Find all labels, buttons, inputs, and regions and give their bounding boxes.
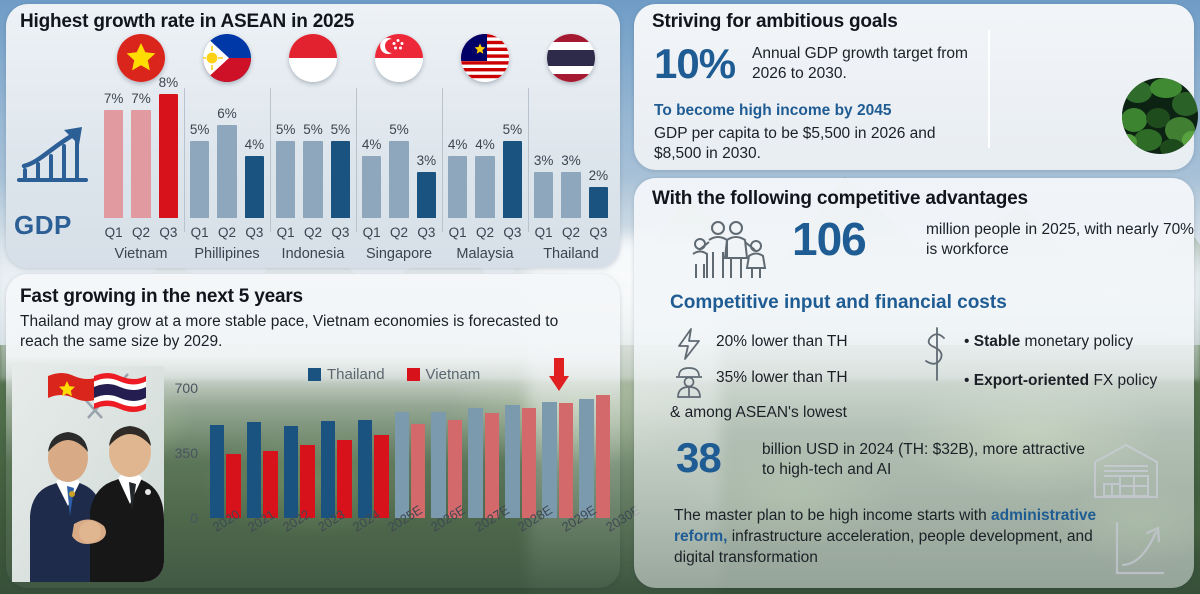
year-group-2028E <box>505 405 536 518</box>
bar-q1 <box>362 156 381 218</box>
bar-thailand-2030E <box>579 399 593 518</box>
quarter-label: Q3 <box>159 225 178 240</box>
singapore-flag-icon <box>375 34 423 82</box>
bar-wrapper: 4% <box>448 90 467 218</box>
country-group-thailand: 3%3%2%Q1Q2Q3Thailand <box>528 30 614 264</box>
y-axis-tick-label: 350 <box>168 445 206 461</box>
year-group-2020 <box>210 425 241 518</box>
bars-malaysia: 4%4%5% <box>448 90 522 218</box>
forecast-legend: ThailandVietnam <box>308 366 480 383</box>
year-group-2022 <box>284 426 315 518</box>
country-group-phillipines: 5%6%4%Q1Q2Q3Phillipines <box>184 30 270 264</box>
bar-q1 <box>190 141 209 219</box>
quarter-labels: Q1Q2Q3 <box>190 225 264 240</box>
bar-q1 <box>276 141 295 219</box>
legend-swatch <box>308 368 321 381</box>
quarter-label: Q3 <box>503 225 522 240</box>
fdi-text: billion USD in 2024 (TH: $32B), more att… <box>762 440 1092 480</box>
country-group-vietnam: 7%7%8%Q1Q2Q3Vietnam <box>98 30 184 264</box>
gdp-target-text: Annual GDP growth target from 2026 to 20… <box>752 44 1002 84</box>
country-group-indonesia: 5%5%5%Q1Q2Q3Indonesia <box>270 30 356 264</box>
bar-q2 <box>303 141 322 219</box>
bar-value-label: 3% <box>417 153 437 168</box>
legend-item-vietnam: Vietnam <box>407 366 481 383</box>
bar-thailand-2023 <box>321 421 335 518</box>
bar-vietnam-2030E <box>596 395 610 518</box>
bar-wrapper: 5% <box>190 90 209 218</box>
y-axis-tick-label: 700 <box>168 380 206 396</box>
bar-value-label: 4% <box>448 137 468 152</box>
country-group-singapore: 4%5%3%Q1Q2Q3Singapore <box>356 30 442 264</box>
quarter-label: Q2 <box>475 225 494 240</box>
philippines-flag-icon <box>203 34 251 82</box>
country-name-label: Singapore <box>356 246 442 262</box>
bar-wrapper: 7% <box>131 90 150 218</box>
bar-thailand-2028E <box>505 405 519 518</box>
quarter-label: Q2 <box>303 225 322 240</box>
bar-wrapper: 4% <box>362 90 381 218</box>
bullet-stable-bold: Stable <box>974 333 1021 350</box>
bar-wrapper: 7% <box>104 90 123 218</box>
bar-q3 <box>159 94 178 218</box>
goals-panel: Striving for ambitious goals 10% Annual … <box>634 4 1194 170</box>
bullet-export-rest: FX policy <box>1089 372 1157 389</box>
labor-cost-line: 35% lower than TH <box>716 369 848 387</box>
bar-value-label: 8% <box>159 75 179 90</box>
construction-worker-icon <box>674 366 704 398</box>
legend-item-thailand: Thailand <box>308 366 385 383</box>
indonesia-flag-icon <box>289 34 337 82</box>
malaysia-flag-icon <box>461 34 509 82</box>
forecast-bars <box>210 388 610 518</box>
bar-q1 <box>534 172 553 219</box>
bar-wrapper: 5% <box>389 90 408 218</box>
bar-wrapper: 4% <box>245 90 264 218</box>
quarter-label: Q2 <box>217 225 236 240</box>
high-income-highlight: To become high income by 2045 <box>654 102 891 120</box>
forecast-panel: Fast growing in the next 5 years Thailan… <box>6 274 620 588</box>
bar-q2 <box>561 172 580 219</box>
bar-value-label: 2% <box>589 168 609 183</box>
bar-vietnam-2024 <box>374 435 388 518</box>
master-plan-text: The master plan to be high income starts… <box>674 506 1104 569</box>
asean-lowest-line: & among ASEAN's lowest <box>670 404 847 422</box>
bar-wrapper: 4% <box>475 90 494 218</box>
gdp-target-number: 10% <box>654 40 735 88</box>
bar-value-label: 4% <box>362 137 382 152</box>
year-group-2027E <box>468 408 499 519</box>
bars-singapore: 4%5%3% <box>362 90 436 218</box>
goals-title: Striving for ambitious goals <box>652 11 898 33</box>
bars-indonesia: 5%5%5% <box>276 90 350 218</box>
bar-thailand-2027E <box>468 408 482 519</box>
bar-q3 <box>245 156 264 218</box>
bar-vietnam-2029E <box>559 403 573 519</box>
gdp-per-capita-text: GDP per capita to be $5,500 in 2026 and … <box>654 124 984 164</box>
quarter-label: Q2 <box>389 225 408 240</box>
country-group-malaysia: 4%4%5%Q1Q2Q3Malaysia <box>442 30 528 264</box>
bar-q2 <box>131 110 150 219</box>
population-number: 106 <box>792 212 866 266</box>
country-group-list: 7%7%8%Q1Q2Q3Vietnam5%6%4%Q1Q2Q3Phillipin… <box>98 30 614 264</box>
bar-value-label: 4% <box>475 137 495 152</box>
bar-value-label: 7% <box>104 91 124 106</box>
quarter-label: Q1 <box>276 225 295 240</box>
quarter-label: Q2 <box>561 225 580 240</box>
bar-q2 <box>217 125 236 218</box>
bar-vietnam-2027E <box>485 413 499 518</box>
bar-value-label: 5% <box>276 122 296 137</box>
bar-value-label: 5% <box>190 122 210 137</box>
quarter-label: Q1 <box>448 225 467 240</box>
bar-value-label: 4% <box>245 137 265 152</box>
country-name-label: Phillipines <box>184 246 270 262</box>
population-text: million people in 2025, with nearly 70% … <box>926 220 1196 260</box>
vietnam-thailand-crossed-flags-icon <box>40 368 150 420</box>
advantages-panel: With the following competitive advantage… <box>634 178 1194 588</box>
year-group-2023 <box>321 421 352 518</box>
bar-q3 <box>331 141 350 219</box>
dollar-sign-icon <box>924 326 950 382</box>
quarter-labels: Q1Q2Q3 <box>448 225 522 240</box>
bar-q3 <box>589 187 608 218</box>
bar-q3 <box>503 141 522 219</box>
quarter-label: Q1 <box>190 225 209 240</box>
bar-wrapper: 3% <box>417 90 436 218</box>
quarter-label: Q1 <box>362 225 381 240</box>
quarter-label: Q2 <box>131 225 150 240</box>
plan-prefix: The master plan to be high income starts… <box>674 507 991 524</box>
bar-thailand-2021 <box>247 422 261 518</box>
bullet-stable-policy: Stable monetary policy <box>964 333 1133 351</box>
bar-value-label: 5% <box>389 122 409 137</box>
bar-value-label: 3% <box>534 153 554 168</box>
bar-wrapper: 6% <box>217 90 236 218</box>
bar-value-label: 6% <box>217 106 237 121</box>
bar-wrapper: 3% <box>534 90 553 218</box>
advantages-title: With the following competitive advantage… <box>652 188 1028 210</box>
goals-divider <box>988 30 990 148</box>
bars-vietnam: 7%7%8% <box>104 90 178 218</box>
quarter-label: Q3 <box>589 225 608 240</box>
bar-vietnam-2028E <box>522 408 536 518</box>
fdi-number: 38 <box>676 434 721 482</box>
bar-wrapper: 2% <box>589 90 608 218</box>
bars-phillipines: 5%6%4% <box>190 90 264 218</box>
forecast-subtitle: Thailand may grow at a more stable pace,… <box>20 312 580 353</box>
bullet-export-policy: Export-oriented FX policy <box>964 372 1157 390</box>
bar-value-label: 7% <box>131 91 151 106</box>
quarter-label: Q1 <box>104 225 123 240</box>
energy-cost-line: 20% lower than TH <box>716 333 848 351</box>
country-name-label: Vietnam <box>98 246 184 262</box>
country-name-label: Thailand <box>528 246 614 262</box>
quarter-label: Q3 <box>331 225 350 240</box>
legend-swatch <box>407 368 420 381</box>
gdp-growth-panel: Highest growth rate in ASEAN in 2025 GDP… <box>6 4 620 268</box>
bar-wrapper: 5% <box>303 90 322 218</box>
forecast-title: Fast growing in the next 5 years <box>20 286 303 308</box>
year-group-2021 <box>247 422 278 518</box>
bar-wrapper: 8% <box>159 90 178 218</box>
forest-canopy-photo <box>1122 78 1198 154</box>
competitive-costs-heading: Competitive input and financial costs <box>670 292 1007 314</box>
family-people-icon <box>682 218 770 280</box>
bar-thailand-2020 <box>210 425 224 518</box>
bullet-stable-rest: monetary policy <box>1020 333 1133 350</box>
legend-label: Thailand <box>327 366 385 383</box>
gdp-label: GDP <box>14 210 72 241</box>
bars-thailand: 3%3%2% <box>534 90 608 218</box>
bar-thailand-2025E <box>395 412 409 518</box>
bar-wrapper: 5% <box>331 90 350 218</box>
bar-thailand-2029E <box>542 402 556 518</box>
bullet-export-bold: Export-oriented <box>974 372 1089 389</box>
bar-value-label: 5% <box>303 122 323 137</box>
bar-value-label: 5% <box>503 122 523 137</box>
quarter-labels: Q1Q2Q3 <box>104 225 178 240</box>
red-down-arrow-icon <box>548 358 570 392</box>
bar-thailand-2022 <box>284 426 298 518</box>
thailand-flag-icon <box>547 34 595 82</box>
bar-thailand-2024 <box>358 420 372 518</box>
bar-value-label: 5% <box>331 122 351 137</box>
quarter-labels: Q1Q2Q3 <box>276 225 350 240</box>
bar-wrapper: 5% <box>276 90 295 218</box>
year-group-2024 <box>358 420 389 518</box>
y-axis-tick-label: 0 <box>168 510 206 526</box>
year-group-2025E <box>395 412 426 518</box>
quarter-labels: Q1Q2Q3 <box>362 225 436 240</box>
legend-label: Vietnam <box>426 366 481 383</box>
country-name-label: Malaysia <box>442 246 528 262</box>
bar-value-label: 3% <box>561 153 581 168</box>
forecast-x-labels: 202020212022202320242025E2026E2027E2028E… <box>210 522 610 537</box>
bar-chart-growth-icon <box>14 122 92 188</box>
forecast-bar-chart: ThailandVietnam 202020212022202320242025… <box>168 370 616 584</box>
bar-q1 <box>104 110 123 219</box>
bar-q2 <box>475 156 494 218</box>
lightning-bolt-icon <box>676 328 702 360</box>
quarter-label: Q1 <box>534 225 553 240</box>
quarter-label: Q3 <box>417 225 436 240</box>
bar-wrapper: 3% <box>561 90 580 218</box>
bar-q2 <box>389 141 408 219</box>
country-name-label: Indonesia <box>270 246 356 262</box>
bar-thailand-2026E <box>431 412 445 518</box>
bar-q3 <box>417 172 436 219</box>
plan-suffix: infrastructure acceleration, people deve… <box>674 528 1093 566</box>
quarter-label: Q3 <box>245 225 264 240</box>
bar-wrapper: 5% <box>503 90 522 218</box>
bar-q1 <box>448 156 467 218</box>
quarter-labels: Q1Q2Q3 <box>534 225 608 240</box>
year-group-2030E <box>579 395 610 518</box>
